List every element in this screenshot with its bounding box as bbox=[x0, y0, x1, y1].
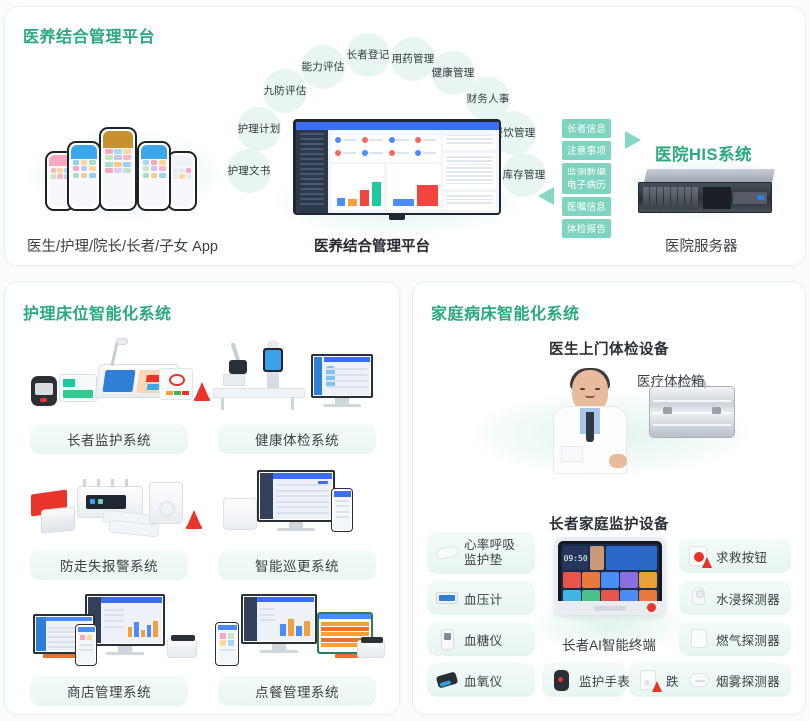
call-button-panel-icon bbox=[159, 368, 193, 400]
nursing-card-label: 智能巡更系统 bbox=[218, 550, 376, 580]
monitor-base-icon bbox=[323, 404, 361, 407]
checkup-desk-icon bbox=[213, 388, 305, 398]
ai-terminal-illustration: 09:50 bbox=[554, 537, 666, 629]
home-bed-panel-title: 家庭病床智能化系统 bbox=[431, 300, 580, 324]
nursing-card-label: 点餐管理系统 bbox=[218, 676, 376, 706]
platform-panel: 医养结合管理平台 医生/护理/ bbox=[4, 6, 806, 266]
microphone-stem-icon bbox=[111, 342, 119, 366]
receipt-printer-icon bbox=[357, 640, 385, 658]
feature-bubble-nine-prevention[interactable]: 九防评估 bbox=[263, 69, 307, 113]
mobile-apps-illustration bbox=[43, 125, 203, 211]
device-pill-smoke-detector[interactable]: 烟雾探测器 bbox=[679, 663, 791, 697]
smart-watch-icon bbox=[550, 669, 574, 691]
platform-caption: 医养结合管理平台 bbox=[314, 235, 430, 256]
device-pill-label: 监护手表 bbox=[579, 671, 630, 690]
platform-dashboard-illustration bbox=[293, 119, 501, 215]
flow-tag-precautions: 注意事项 bbox=[562, 141, 611, 160]
monitor-base-icon bbox=[106, 652, 144, 655]
water-leak-detector-icon bbox=[687, 587, 711, 609]
flow-to-his-tags: 长者信息 注意事项 监测数据 bbox=[562, 119, 611, 182]
infographic-root: 医养结合管理平台 医生/护理/ bbox=[0, 0, 810, 721]
platform-panel-title: 医养结合管理平台 bbox=[23, 23, 155, 47]
arrow-from-his-icon bbox=[538, 187, 554, 205]
doctor-visit-illustration bbox=[413, 362, 805, 474]
nursing-card-label: 防走失报警系统 bbox=[30, 550, 188, 580]
glucose-meter-icon bbox=[435, 628, 459, 650]
device-pill-oximeter[interactable]: 血氧仪 bbox=[427, 663, 535, 697]
blood-pressure-monitor-icon bbox=[435, 587, 459, 609]
monitor-icon bbox=[257, 470, 335, 522]
elder-monitoring-illustration bbox=[19, 338, 199, 420]
device-pill-heart-rate-pad[interactable]: 心率呼吸 监护垫 bbox=[427, 532, 535, 574]
home-bed-panel: 家庭病床智能化系统 医生上门体检设备 bbox=[412, 281, 806, 715]
device-pill-label: 烟雾探测器 bbox=[716, 671, 780, 690]
home-monitor-section-title: 长者家庭监护设备 bbox=[413, 513, 805, 534]
phone-mockup-5 bbox=[167, 151, 197, 211]
feature-bubble-nursing-plan[interactable]: 护理计划 bbox=[237, 107, 281, 151]
phone-icon bbox=[331, 488, 353, 532]
hospital-server-illustration bbox=[638, 169, 772, 213]
display-base-icon bbox=[335, 654, 359, 658]
flow-tag-checkup-report: 体检报告 bbox=[562, 219, 611, 238]
device-pill-label: 心率呼吸 监护垫 bbox=[464, 538, 515, 568]
device-pill-label: 血氧仪 bbox=[464, 671, 502, 690]
antenna-4-icon bbox=[125, 479, 128, 487]
nursing-bed-panel-title: 护理床位智能化系统 bbox=[23, 300, 172, 324]
nursing-bed-panel: 护理床位智能化系统 bbox=[4, 281, 400, 715]
device-pill-glucose-meter[interactable]: 血糖仪 bbox=[427, 622, 535, 656]
oximeter-icon bbox=[435, 669, 459, 691]
health-checkup-illustration bbox=[207, 338, 387, 420]
medical-case-icon bbox=[649, 386, 735, 438]
phone-mockup-4 bbox=[137, 141, 171, 211]
desk-leg-left-icon bbox=[221, 398, 224, 410]
receipt-printer-icon bbox=[167, 638, 197, 658]
device-pill-label: 血压计 bbox=[464, 589, 502, 608]
device-pill-label: 燃气探测器 bbox=[716, 630, 780, 649]
monitor-icon bbox=[311, 354, 373, 398]
sos-button-icon bbox=[687, 545, 711, 567]
feature-bubble-nursing-docs[interactable]: 护理文书 bbox=[227, 149, 271, 193]
nursing-card-label: 长者监护系统 bbox=[30, 424, 188, 454]
device-pill-sos-button[interactable]: 求救按钮 bbox=[679, 539, 791, 573]
desk-leg-right-icon bbox=[291, 398, 294, 410]
flow-tag-doctor-orders: 医嘱信息 bbox=[562, 197, 611, 216]
nursing-bed-card-grid: 长者监护系统 bbox=[19, 334, 387, 710]
fall-alarm-icon bbox=[637, 669, 661, 691]
device-pill-label: 血糖仪 bbox=[464, 630, 502, 649]
device-pill-label: 求救按钮 bbox=[716, 547, 767, 566]
watch-icon bbox=[31, 376, 57, 406]
arrow-to-his-icon bbox=[625, 131, 641, 149]
monitor-icon bbox=[241, 594, 317, 644]
flow-tag-emr: 电子病历 bbox=[562, 175, 611, 194]
display-panel-icon bbox=[59, 374, 97, 402]
doctor-avatar bbox=[553, 370, 627, 474]
reader-unit-icon bbox=[149, 482, 183, 524]
phone-mockup-2 bbox=[67, 141, 101, 211]
device-pill-smart-watch[interactable]: 监护手表 bbox=[542, 663, 626, 697]
antenna-1-icon bbox=[83, 479, 86, 487]
gas-detector-icon bbox=[687, 628, 711, 650]
doctor-section-title: 医生上门体检设备 bbox=[413, 338, 805, 359]
feature-bubble-medication[interactable]: 用药管理 bbox=[391, 37, 435, 81]
his-system-title: 医院HIS系统 bbox=[655, 141, 752, 165]
store-management-illustration bbox=[19, 590, 199, 672]
nursing-card-smart-patrol[interactable]: 智能巡更系统 bbox=[207, 460, 387, 584]
heart-rate-pad-icon bbox=[435, 542, 459, 564]
scanner-head-icon bbox=[229, 360, 247, 374]
patrol-point-icon bbox=[223, 498, 257, 530]
device-pill-gas-detector[interactable]: 燃气探测器 bbox=[679, 622, 791, 656]
phone-icon bbox=[75, 624, 97, 666]
antenna-3-icon bbox=[111, 479, 114, 487]
nursing-card-health-checkup[interactable]: 健康体检系统 bbox=[207, 334, 387, 458]
terminal-clock: 09:50 bbox=[563, 546, 588, 570]
monitor-base-icon bbox=[277, 528, 315, 531]
nursing-card-label: 健康体检系统 bbox=[218, 424, 376, 454]
phone-mockup-3 bbox=[99, 127, 137, 211]
flow-tag-elder-info: 长者信息 bbox=[562, 119, 611, 138]
nursing-card-label: 商店管理系统 bbox=[30, 676, 188, 706]
feature-bubble-ability-assessment[interactable]: 能力评估 bbox=[301, 45, 345, 89]
smart-patrol-illustration bbox=[207, 464, 387, 546]
medical-case-label: 医疗体检箱 bbox=[637, 370, 705, 390]
nursing-card-elder-monitoring[interactable]: 长者监护系统 bbox=[19, 334, 199, 458]
checkup-screen-icon bbox=[263, 348, 283, 372]
server-caption: 医院服务器 bbox=[665, 235, 738, 256]
monitor-icon bbox=[85, 594, 165, 646]
device-pill-blood-pressure[interactable]: 血压计 bbox=[427, 581, 535, 615]
feature-bubble-elder-registration[interactable]: 长者登记 bbox=[346, 33, 390, 77]
sensor-box-icon bbox=[223, 374, 245, 386]
anti-wander-illustration bbox=[19, 464, 199, 546]
sensor-plate-icon bbox=[41, 506, 75, 534]
antenna-2-icon bbox=[97, 479, 100, 487]
smoke-detector-icon bbox=[687, 669, 711, 691]
microphone-head-icon bbox=[116, 338, 128, 345]
app-caption: 医生/护理/院长/长者/子女 App bbox=[27, 235, 218, 256]
meal-ordering-illustration bbox=[207, 590, 387, 672]
device-pill-label: 水浸探测器 bbox=[716, 589, 780, 608]
nursing-card-anti-wander-alarm[interactable]: 防走失报警系统 bbox=[19, 460, 199, 584]
flow-from-his-tags: 电子病历 医嘱信息 体检报告 bbox=[562, 175, 611, 238]
nursing-card-meal-ordering[interactable]: 点餐管理系统 bbox=[207, 586, 387, 710]
nursing-card-store-management[interactable]: 商店管理系统 bbox=[19, 586, 199, 710]
device-pill-water-leak-detector[interactable]: 水浸探测器 bbox=[679, 581, 791, 615]
alarm-bell-icon bbox=[187, 510, 201, 526]
monitor-base-icon bbox=[260, 650, 298, 653]
phone-icon bbox=[215, 622, 239, 666]
ai-terminal-device[interactable]: 09:50 bbox=[554, 537, 666, 615]
